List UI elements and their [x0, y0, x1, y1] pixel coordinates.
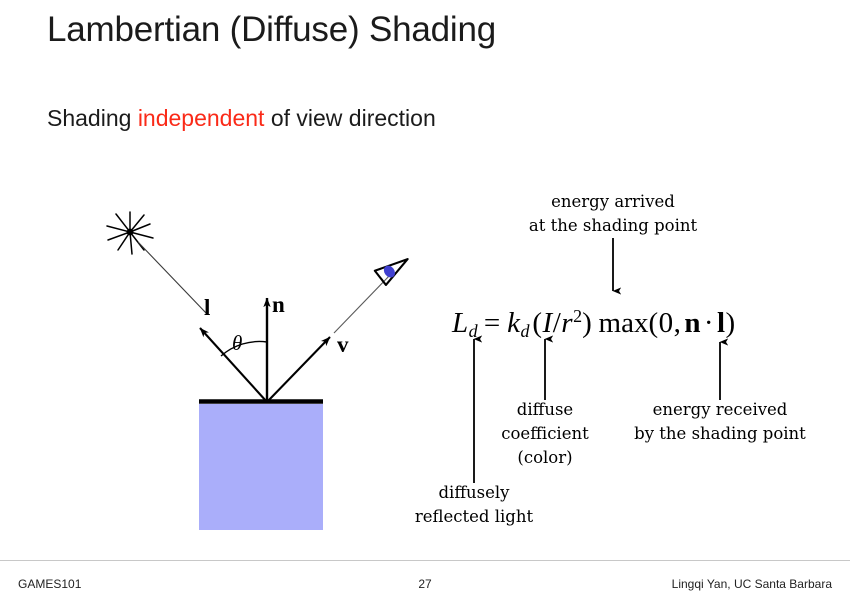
eye-viewer-icon: [375, 250, 412, 285]
page-title: Lambertian (Diffuse) Shading: [47, 8, 496, 52]
equation-distance-exponent: 2: [573, 306, 582, 326]
equation-irradiance-group: (I/r2): [529, 307, 598, 339]
subtitle-highlight: independent: [138, 105, 265, 131]
theta-angle-label: θ: [232, 331, 242, 355]
theta-angle-arc: [221, 341, 267, 356]
annotation-energy-received: energy received by the shading point: [620, 398, 820, 446]
annotation-diffuse-coefficient: diffuse coefficient (color): [480, 398, 610, 470]
equation-equals: =: [478, 307, 507, 339]
incident-light-ray: [138, 242, 207, 314]
footer-divider: [0, 560, 850, 561]
shading-equation: Ld = kd (I/r2) max(0, n · l): [452, 296, 736, 351]
subtitle-text-after: of view direction: [264, 105, 435, 131]
annotation-diffusely-reflected: diffusely reflected light: [389, 481, 559, 529]
shading-geometry-diagram: l n v θ: [80, 190, 420, 540]
annotation-energy-arrived: energy arrived at the shading point: [498, 190, 728, 238]
equation-lhs: Ld: [452, 307, 478, 339]
view-vector-arrow: [267, 337, 330, 402]
slide-subtitle: Shading independent of view direction: [47, 103, 436, 133]
equation-kd: kd: [507, 307, 529, 339]
equation-max-args: (0, n · l): [648, 307, 735, 339]
equation-light-vector: l: [717, 307, 726, 339]
normal-vector-label: n: [272, 292, 285, 317]
equation-max-function: max: [599, 307, 649, 339]
equation-lhs-subscript: d: [469, 321, 478, 341]
starburst-light-icon: [107, 212, 153, 254]
equation-normal-vector: n: [684, 307, 701, 339]
light-vector-label: l: [204, 295, 210, 320]
footer-author: Lingqi Yan, UC Santa Barbara: [672, 577, 832, 591]
subtitle-text-before: Shading: [47, 105, 138, 131]
surface-slab: [199, 404, 323, 530]
view-vector-label: v: [337, 332, 349, 357]
slide-canvas: Lambertian (Diffuse) Shading Shading ind…: [0, 0, 850, 603]
